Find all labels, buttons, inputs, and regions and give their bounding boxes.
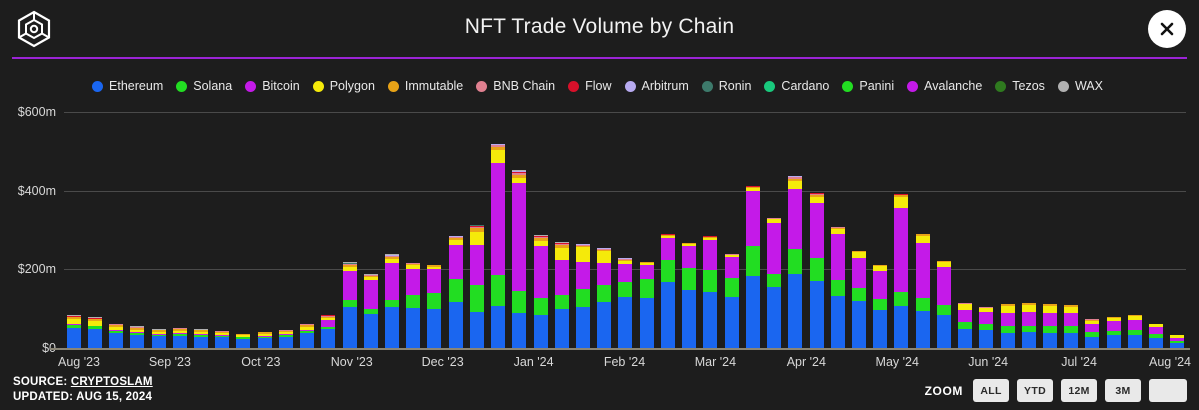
- bar-segment-ethereum: [916, 311, 930, 348]
- bar-segment-bitcoin: [1107, 321, 1121, 330]
- bar-segment-polygon: [1022, 305, 1036, 312]
- legend-item-label: Cardano: [781, 79, 829, 93]
- page-title: NFT Trade Volume by Chain: [0, 15, 1199, 39]
- bar-segment-ethereum: [427, 309, 441, 348]
- legend-item-avalanche[interactable]: Avalanche: [907, 79, 986, 93]
- bar-segment-ethereum: [130, 335, 144, 348]
- x-axis-tick-label: May '24: [876, 355, 919, 369]
- bar-segment-ethereum: [67, 328, 81, 348]
- bar-segment-ethereum: [831, 296, 845, 348]
- legend-item-ronin[interactable]: Ronin: [702, 79, 756, 93]
- bar-column[interactable]: [88, 317, 102, 348]
- zoom-button-12m[interactable]: 12M: [1061, 379, 1097, 402]
- bar-segment-bitcoin: [725, 257, 739, 278]
- bar-column[interactable]: [406, 263, 420, 348]
- bar-segment-bitcoin: [1022, 312, 1036, 325]
- bar-column[interactable]: [937, 261, 951, 348]
- bar-column[interactable]: [703, 236, 717, 348]
- bar-segment-solana: [767, 274, 781, 287]
- close-button[interactable]: [1148, 10, 1186, 48]
- bar-segment-bitcoin: [406, 269, 420, 295]
- legend-item-label: Panini: [859, 79, 894, 93]
- bar-segment-ethereum: [979, 330, 993, 348]
- legend-item-label: Flow: [585, 79, 611, 93]
- legend-swatch-icon: [842, 81, 853, 92]
- bar-segment-bitcoin: [682, 246, 696, 268]
- bar-segment-solana: [682, 268, 696, 290]
- bar-column[interactable]: [491, 143, 505, 348]
- bar-column[interactable]: [958, 303, 972, 348]
- bar-column[interactable]: [916, 234, 930, 348]
- bar-segment-solana: [916, 298, 930, 311]
- bar-segment-polygon: [894, 197, 908, 208]
- x-axis-tick-label: Feb '24: [604, 355, 645, 369]
- legend-swatch-icon: [568, 81, 579, 92]
- bar-segment-polygon: [916, 236, 930, 243]
- legend-swatch-icon: [92, 81, 103, 92]
- bar-segment-solana: [640, 279, 654, 298]
- bar-segment-ethereum: [597, 302, 611, 348]
- bar-segment-bitcoin: [831, 234, 845, 280]
- zoom-button-3m[interactable]: 3M: [1105, 379, 1141, 402]
- bar-column[interactable]: [236, 333, 250, 348]
- bar-segment-bitcoin: [661, 238, 675, 260]
- bar-segment-ethereum: [173, 336, 187, 348]
- bar-segment-bitcoin: [555, 260, 569, 295]
- x-axis-tick-label: Apr '24: [787, 355, 826, 369]
- legend-swatch-icon: [245, 81, 256, 92]
- source-link[interactable]: CRYPTOSLAM: [71, 376, 153, 388]
- bar-segment-solana: [894, 292, 908, 306]
- bar-segment-ethereum: [576, 307, 590, 348]
- bar-column[interactable]: [449, 236, 463, 348]
- bar-column[interactable]: [618, 258, 632, 348]
- bar-segment-ethereum: [767, 287, 781, 348]
- bar-segment-ethereum: [1149, 338, 1163, 348]
- bar-segment-ethereum: [894, 306, 908, 348]
- zoom-controls: ZOOM ALLYTD12M3M: [925, 379, 1187, 402]
- bar-column[interactable]: [1064, 305, 1078, 348]
- zoom-label: ZOOM: [925, 384, 963, 398]
- bar-column[interactable]: [746, 186, 760, 348]
- bar-segment-polygon: [555, 248, 569, 260]
- bar-column[interactable]: [470, 225, 484, 348]
- bar-column[interactable]: [512, 170, 526, 348]
- bar-segment-ethereum: [343, 307, 357, 348]
- bar-segment-ethereum: [449, 302, 463, 348]
- bar-column[interactable]: [555, 242, 569, 348]
- legend-item-label: Ronin: [719, 79, 752, 93]
- bar-segment-ethereum: [1043, 333, 1057, 348]
- bar-segment-solana: [810, 258, 824, 280]
- bar-segment-ethereum: [852, 301, 866, 348]
- legend-swatch-icon: [388, 81, 399, 92]
- legend-item-label: Bitcoin: [262, 79, 300, 93]
- legend-item-ethereum[interactable]: Ethereum: [92, 79, 167, 93]
- bar-column[interactable]: [810, 193, 824, 348]
- legend-swatch-icon: [176, 81, 187, 92]
- bar-segment-ethereum: [258, 338, 272, 348]
- bar-segment-bitcoin: [534, 246, 548, 298]
- bar-column[interactable]: [300, 324, 314, 348]
- bar-segment-polygon: [597, 251, 611, 263]
- legend-item-label: BNB Chain: [493, 79, 555, 93]
- legend-item-cardano[interactable]: Cardano: [764, 79, 833, 93]
- bar-segment-bitcoin: [703, 240, 717, 269]
- x-axis-tick-label: Mar '24: [695, 355, 736, 369]
- bar-segment-solana: [725, 278, 739, 297]
- bar-segment-solana: [661, 260, 675, 282]
- bar-segment-solana: [385, 300, 399, 307]
- bar-segment-ethereum: [236, 339, 250, 348]
- bar-segment-bitcoin: [364, 280, 378, 308]
- bar-segment-polygon: [1064, 307, 1078, 314]
- bar-column[interactable]: [894, 194, 908, 348]
- legend-item-polygon[interactable]: Polygon: [313, 79, 379, 93]
- bar-column[interactable]: [279, 330, 293, 348]
- bar-segment-ethereum: [491, 306, 505, 348]
- bar-segment-solana: [597, 285, 611, 302]
- bar-segment-ethereum: [703, 292, 717, 348]
- zoom-button-custom[interactable]: [1149, 379, 1187, 402]
- bar-segment-polygon: [1043, 306, 1057, 313]
- bar-segment-ethereum: [1064, 333, 1078, 348]
- bar-segment-solana: [555, 295, 569, 309]
- bar-column[interactable]: [385, 254, 399, 348]
- legend-item-label: Solana: [193, 79, 232, 93]
- legend-swatch-icon: [476, 81, 487, 92]
- bar-segment-ethereum: [300, 333, 314, 348]
- bar-segment-bitcoin: [788, 189, 802, 249]
- bar-segment-ethereum: [406, 308, 420, 349]
- x-axis-line: [50, 348, 1190, 350]
- bar-segment-bitcoin: [470, 245, 484, 286]
- bar-segment-bitcoin: [576, 262, 590, 290]
- bar-segment-ethereum: [385, 307, 399, 348]
- bar-column[interactable]: [258, 331, 272, 348]
- bar-segment-bitcoin: [979, 312, 993, 323]
- bar-segment-ethereum: [1107, 335, 1121, 348]
- bar-segment-solana: [618, 282, 632, 298]
- bar-column[interactable]: [1149, 324, 1163, 348]
- header-divider: [12, 57, 1187, 59]
- bar-column[interactable]: [1043, 304, 1057, 348]
- bar-column[interactable]: [979, 307, 993, 348]
- bar-column[interactable]: [152, 329, 166, 348]
- bar-segment-bitcoin: [1064, 313, 1078, 326]
- bar-segment-ethereum: [1022, 332, 1036, 348]
- x-axis-tick-label: Jul '24: [1061, 355, 1097, 369]
- legend-item-tezos[interactable]: Tezos: [995, 79, 1049, 93]
- bar-column[interactable]: [767, 218, 781, 348]
- bar-column[interactable]: [725, 254, 739, 348]
- bar-segment-ethereum: [321, 329, 335, 348]
- legend-item-solana[interactable]: Solana: [176, 79, 236, 93]
- bar-segment-polygon: [1001, 306, 1015, 313]
- bar-segment-ethereum: [1085, 337, 1099, 348]
- source-prefix: SOURCE:: [13, 376, 71, 388]
- bar-segment-solana: [576, 289, 590, 307]
- bar-column[interactable]: [321, 315, 335, 348]
- bar-segment-ethereum: [555, 309, 569, 348]
- legend-item-panini[interactable]: Panini: [842, 79, 898, 93]
- legend-item-bitcoin[interactable]: Bitcoin: [245, 79, 304, 93]
- x-axis-tick-label: Nov '23: [331, 355, 373, 369]
- legend-item-label: Tezos: [1012, 79, 1045, 93]
- bar-segment-solana: [873, 299, 887, 310]
- x-axis-tick-label: Aug '23: [58, 355, 100, 369]
- bar-segment-bitcoin: [427, 269, 441, 293]
- legend-item-label: Avalanche: [924, 79, 982, 93]
- bar-segment-solana: [746, 246, 760, 277]
- bar-column[interactable]: [831, 227, 845, 348]
- bar-segment-bitcoin: [767, 223, 781, 274]
- bar-segment-ethereum: [873, 310, 887, 348]
- bar-segment-solana: [406, 295, 420, 308]
- bar-segment-polygon: [470, 232, 484, 244]
- bar-segment-bitcoin: [491, 163, 505, 275]
- bar-segment-polygon: [491, 150, 505, 163]
- bar-segment-solana: [512, 291, 526, 313]
- bar-segment-bitcoin: [1001, 313, 1015, 326]
- bar-segment-ethereum: [1001, 333, 1015, 348]
- legend-swatch-icon: [764, 81, 775, 92]
- zoom-button-ytd[interactable]: YTD: [1017, 379, 1053, 402]
- bar-segment-bitcoin: [958, 310, 972, 322]
- bar-segment-bitcoin: [1043, 313, 1057, 326]
- bar-segment-ethereum: [279, 337, 293, 348]
- legend-item-flow[interactable]: Flow: [568, 79, 615, 93]
- bar-column[interactable]: [364, 274, 378, 348]
- bar-segment-solana: [1022, 326, 1036, 333]
- bar-segment-bitcoin: [746, 191, 760, 245]
- bar-segment-solana: [449, 279, 463, 302]
- bar-segment-solana: [852, 288, 866, 301]
- legend-item-label: Arbitrum: [642, 79, 689, 93]
- x-axis-tick-label: Jun '24: [968, 355, 1008, 369]
- bar-segment-bitcoin: [1149, 327, 1163, 334]
- bar-column[interactable]: [1107, 317, 1121, 348]
- x-axis-tick-label: Oct '23: [241, 355, 280, 369]
- bar-segment-ethereum: [470, 312, 484, 348]
- bar-segment-ethereum: [194, 337, 208, 348]
- bar-column[interactable]: [427, 265, 441, 348]
- bar-segment-solana: [788, 249, 802, 273]
- bar-segment-solana: [534, 298, 548, 315]
- bar-column[interactable]: [597, 248, 611, 348]
- x-axis-tick-label: Aug '24: [1149, 355, 1191, 369]
- bar-segment-bitcoin: [1085, 324, 1099, 333]
- legend-item-wax[interactable]: WAX: [1058, 79, 1107, 93]
- bar-segment-bitcoin: [894, 208, 908, 292]
- bar-segment-polygon: [788, 181, 802, 189]
- bar-segment-solana: [470, 285, 484, 312]
- bar-segment-ethereum: [364, 314, 378, 348]
- bar-segment-bitcoin: [640, 265, 654, 279]
- nft-trade-volume-chart-panel: NFT Trade Volume by Chain EthereumSolana…: [0, 0, 1199, 410]
- bar-segment-bitcoin: [343, 271, 357, 300]
- chart-plot-area: $0$200m$400m$600m: [0, 100, 1199, 355]
- updated-label: UPDATED: AUG 15, 2024: [13, 391, 152, 403]
- legend-swatch-icon: [313, 81, 324, 92]
- chart-legend: EthereumSolanaBitcoinPolygonImmutableBNB…: [0, 76, 1199, 96]
- bar-segment-solana: [937, 305, 951, 315]
- bar-segment-ethereum: [618, 297, 632, 348]
- source-line: SOURCE: CRYPTOSLAM: [13, 376, 153, 388]
- bar-segment-bitcoin: [385, 263, 399, 300]
- bar-segment-ethereum: [215, 337, 229, 348]
- bar-segment-ethereum: [661, 282, 675, 348]
- bar-column[interactable]: [1001, 304, 1015, 348]
- bar-segment-ethereum: [725, 297, 739, 348]
- legend-item-label: Polygon: [330, 79, 375, 93]
- close-icon: [1158, 20, 1176, 38]
- bar-segment-ethereum: [152, 336, 166, 348]
- bar-column[interactable]: [343, 262, 357, 348]
- bar-segment-bitcoin: [512, 183, 526, 291]
- bar-segment-ethereum: [109, 333, 123, 348]
- bar-segment-ethereum: [810, 281, 824, 348]
- bar-column[interactable]: [1022, 303, 1036, 348]
- bar-segment-bitcoin: [852, 258, 866, 288]
- bar-segment-ethereum: [534, 315, 548, 348]
- bar-segment-bitcoin: [873, 271, 887, 299]
- bar-segment-ethereum: [682, 290, 696, 348]
- bar-column[interactable]: [640, 262, 654, 348]
- bar-column[interactable]: [873, 265, 887, 348]
- bar-segment-solana: [1001, 326, 1015, 333]
- legend-swatch-icon: [625, 81, 636, 92]
- bar-segment-ethereum: [937, 315, 951, 348]
- legend-swatch-icon: [907, 81, 918, 92]
- bar-segment-solana: [1043, 326, 1057, 333]
- bar-column[interactable]: [682, 243, 696, 348]
- bar-column[interactable]: [576, 244, 590, 348]
- bar-column[interactable]: [215, 331, 229, 348]
- bar-segment-solana: [831, 280, 845, 295]
- bar-column[interactable]: [1085, 319, 1099, 348]
- bar-segment-bitcoin: [1128, 320, 1142, 330]
- bar-segment-bitcoin: [449, 245, 463, 279]
- bar-segment-solana: [958, 322, 972, 329]
- bar-segment-ethereum: [788, 274, 802, 348]
- legend-swatch-icon: [1058, 81, 1069, 92]
- bar-column[interactable]: [173, 328, 187, 348]
- legend-item-bnb-chain[interactable]: BNB Chain: [476, 79, 559, 93]
- legend-item-arbitrum[interactable]: Arbitrum: [625, 79, 693, 93]
- legend-item-immutable[interactable]: Immutable: [388, 79, 467, 93]
- bar-segment-bitcoin: [810, 203, 824, 258]
- bar-column[interactable]: [109, 324, 123, 348]
- x-axis-tick-label: Dec '23: [422, 355, 464, 369]
- bars-layer: [0, 100, 1199, 355]
- bar-column[interactable]: [194, 329, 208, 348]
- bar-segment-bitcoin: [597, 263, 611, 285]
- bar-column[interactable]: [1170, 335, 1184, 348]
- bar-segment-polygon: [576, 247, 590, 261]
- bar-segment-solana: [343, 300, 357, 307]
- legend-swatch-icon: [995, 81, 1006, 92]
- x-axis-labels: Aug '23Sep '23Oct '23Nov '23Dec '23Jan '…: [0, 355, 1199, 375]
- bar-segment-bitcoin: [937, 267, 951, 305]
- x-axis-tick-label: Jan '24: [514, 355, 554, 369]
- bar-segment-bitcoin: [618, 264, 632, 281]
- bar-segment-solana: [491, 275, 505, 305]
- legend-swatch-icon: [702, 81, 713, 92]
- zoom-button-all[interactable]: ALL: [973, 379, 1009, 402]
- legend-item-label: Immutable: [405, 79, 463, 93]
- bar-segment-ethereum: [88, 329, 102, 348]
- bar-segment-solana: [427, 293, 441, 309]
- bar-column[interactable]: [661, 234, 675, 348]
- bar-column[interactable]: [1128, 315, 1142, 348]
- bar-column[interactable]: [130, 326, 144, 348]
- bar-segment-bitcoin: [916, 243, 930, 298]
- legend-item-label: WAX: [1075, 79, 1103, 93]
- bar-segment-ethereum: [1128, 335, 1142, 348]
- bar-segment-ethereum: [512, 313, 526, 348]
- bar-column[interactable]: [788, 176, 802, 348]
- bar-segment-ethereum: [746, 276, 760, 348]
- bar-column[interactable]: [534, 235, 548, 348]
- panel-footer: SOURCE: CRYPTOSLAM UPDATED: AUG 15, 2024…: [0, 374, 1199, 410]
- bar-segment-solana: [703, 270, 717, 292]
- x-axis-tick-label: Sep '23: [149, 355, 191, 369]
- bar-segment-ethereum: [640, 298, 654, 348]
- bar-segment-ethereum: [958, 329, 972, 348]
- panel-header: NFT Trade Volume by Chain: [0, 0, 1199, 58]
- bar-column[interactable]: [852, 250, 866, 348]
- legend-item-label: Ethereum: [109, 79, 163, 93]
- bar-column[interactable]: [67, 315, 81, 348]
